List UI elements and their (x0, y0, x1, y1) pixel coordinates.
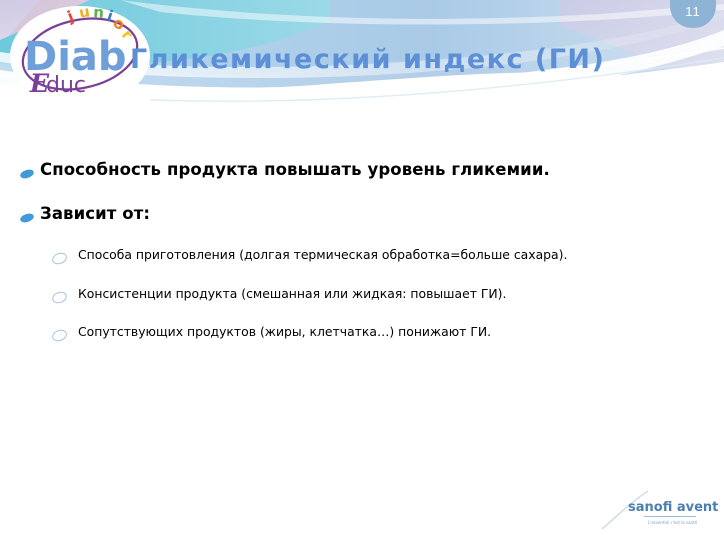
bullet-ring-icon (51, 328, 69, 343)
sub-bullet-text: Консистенции продукта (смешанная или жид… (78, 286, 506, 302)
presentation-slide: 11 Diab E duc j u n i o r Гликемический … (0, 0, 724, 535)
svg-text:n: n (93, 3, 105, 22)
bullet-oval-icon (19, 212, 35, 224)
bullet-item-level1: Способность продукта повышать уровень гл… (18, 160, 718, 181)
bullet-ring-icon (51, 251, 69, 266)
bullet-oval-icon (19, 168, 35, 180)
sponsor-tagline: L'essentiel c'est la santé (648, 520, 698, 525)
bullet-text: Зависит от: (40, 204, 150, 225)
bullet-item-level2: Способа приготовления (долгая термическа… (18, 247, 718, 263)
sub-bullet-text: Способа приготовления (долгая термическа… (78, 247, 567, 263)
sub-bullet-text: Сопутствующих продуктов (жиры, клетчатка… (78, 324, 491, 340)
bullet-item-level2: Консистенции продукта (смешанная или жид… (18, 286, 718, 302)
bullet-item-level1: Зависит от: (18, 204, 718, 225)
slide-body: Способность продукта повышать уровень гл… (18, 160, 718, 363)
bullet-item-level2: Сопутствующих продуктов (жиры, клетчатка… (18, 324, 718, 340)
sanofi-aventis-logo: sanofi aventis L'essentiel c'est la sant… (600, 487, 718, 531)
svg-text:u: u (78, 2, 92, 22)
sponsor-name: sanofi aventis (628, 500, 718, 515)
bullet-text: Способность продукта повышать уровень гл… (40, 160, 550, 181)
sub-bullet-list: Способа приготовления (долгая термическа… (18, 247, 718, 340)
bullet-ring-icon (51, 290, 69, 305)
svg-text:duc: duc (46, 73, 86, 98)
page-title: Гликемический индекс (ГИ) (130, 44, 605, 75)
